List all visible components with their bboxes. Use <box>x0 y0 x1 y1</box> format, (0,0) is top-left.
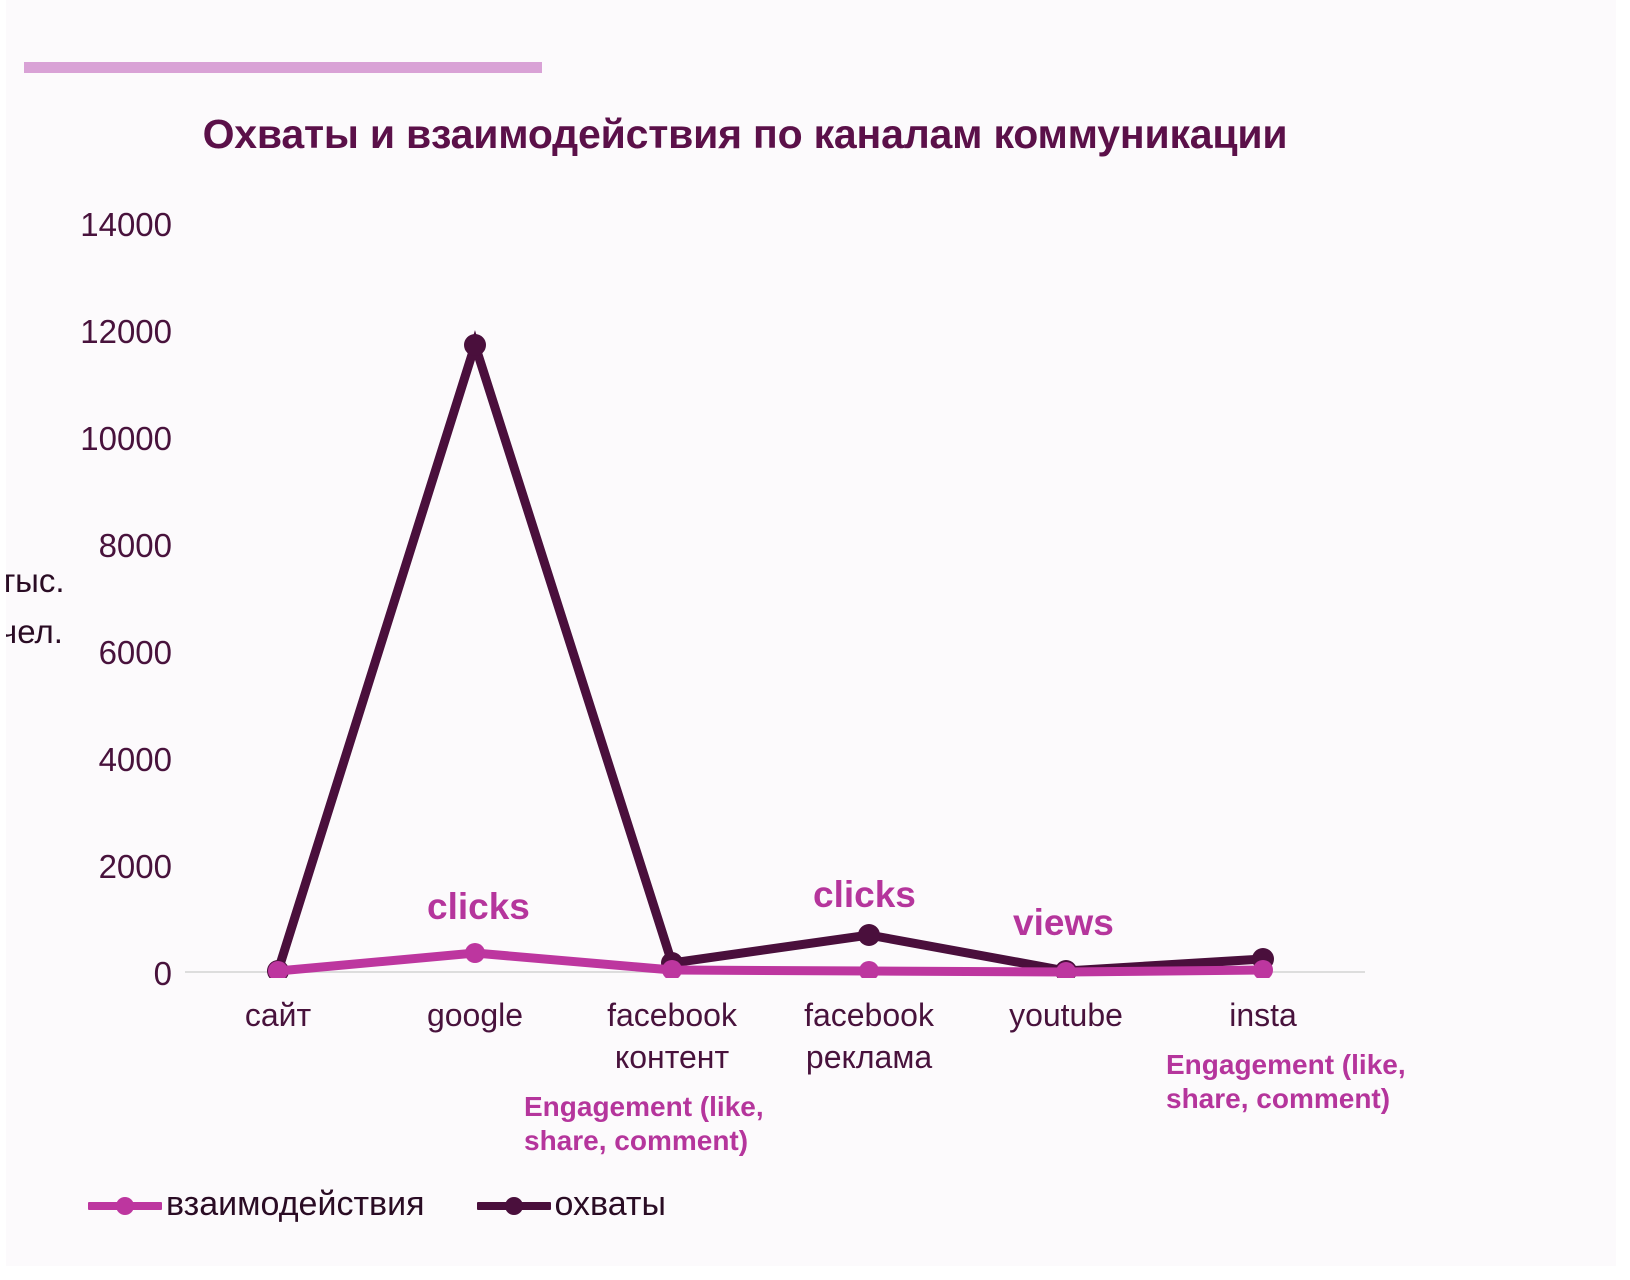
annotation-clicks-facebook-ads: clicks <box>813 872 916 917</box>
chart-legend: взаимодействия охваты <box>88 1185 666 1224</box>
legend-item-ohvaty[interactable]: охваты <box>477 1185 666 1224</box>
series-line-ohvaty <box>278 345 1263 971</box>
x-tick-youtube: youtube <box>1009 995 1123 1037</box>
annotation-engagement-insta-line-1: Engagement (like, <box>1166 1048 1476 1082</box>
legend-item-vzaimodeystviya[interactable]: взаимодействия <box>88 1185 425 1224</box>
x-tick-google-line-1: google <box>427 995 523 1037</box>
annotation-views-youtube: views <box>1013 900 1114 945</box>
legend-marker-line-icon <box>477 1194 551 1216</box>
annotation-engagement-insta: Engagement (like, share, comment) <box>1166 1048 1476 1116</box>
y-axis-title-line-2: чел. <box>0 606 100 657</box>
plot-area <box>185 210 1365 978</box>
y-tick-12000: 12000 <box>2 313 172 351</box>
legend-label-ohvaty: охваты <box>555 1185 666 1224</box>
data-point-ohvaty-1 <box>464 334 486 356</box>
legend-marker-line-icon <box>88 1194 162 1216</box>
x-tick-facebook-content: facebook контент <box>607 995 737 1078</box>
y-axis-title: тыс. чел. <box>0 555 100 657</box>
x-tick-sayt: сайт <box>245 995 311 1037</box>
annotation-engagement-insta-line-2: share, comment) <box>1166 1082 1476 1116</box>
y-tick-10000: 10000 <box>2 420 172 458</box>
x-tick-youtube-line-1: youtube <box>1009 995 1123 1037</box>
x-tick-facebook-ads-line-1: facebook <box>804 995 934 1037</box>
data-point-ohvaty-3 <box>858 924 880 946</box>
x-tick-facebook-content-line-1: facebook <box>607 995 737 1037</box>
x-tick-insta-line-1: insta <box>1229 995 1297 1037</box>
x-tick-facebook-content-line-2: контент <box>607 1037 737 1079</box>
x-tick-facebook-ads-line-2: реклама <box>804 1037 934 1079</box>
chart-svg <box>185 210 1365 978</box>
y-tick-2000: 2000 <box>2 848 172 886</box>
data-point-vzaimodeystviya-3 <box>859 961 879 978</box>
y-axis-title-line-1: тыс. <box>0 555 100 606</box>
annotation-clicks-google: clicks <box>427 884 530 929</box>
x-tick-insta: insta <box>1229 995 1297 1037</box>
page-edge-left <box>0 0 6 1280</box>
y-tick-0: 0 <box>2 955 172 993</box>
annotation-engagement-facebook-content-line-1: Engagement (like, <box>524 1090 834 1124</box>
data-point-vzaimodeystviya-1 <box>465 943 485 963</box>
page-edge-right <box>1616 0 1630 1280</box>
y-tick-4000: 4000 <box>2 741 172 779</box>
x-tick-facebook-ads: facebook реклама <box>804 995 934 1078</box>
legend-label-vzaimodeystviya: взаимодействия <box>166 1185 425 1224</box>
chart-page: Охваты и взаимодействия по каналам комму… <box>0 0 1630 1280</box>
page-title: Охваты и взаимодействия по каналам комму… <box>180 108 1310 160</box>
x-tick-google: google <box>427 995 523 1037</box>
annotation-engagement-facebook-content-line-2: share, comment) <box>524 1124 834 1158</box>
annotation-engagement-facebook-content: Engagement (like, share, comment) <box>524 1090 834 1158</box>
page-edge-bottom <box>0 1266 1630 1280</box>
x-tick-sayt-line-1: сайт <box>245 995 311 1037</box>
series-line-vzaimodeystviya <box>278 953 1263 972</box>
y-tick-14000: 14000 <box>2 206 172 244</box>
